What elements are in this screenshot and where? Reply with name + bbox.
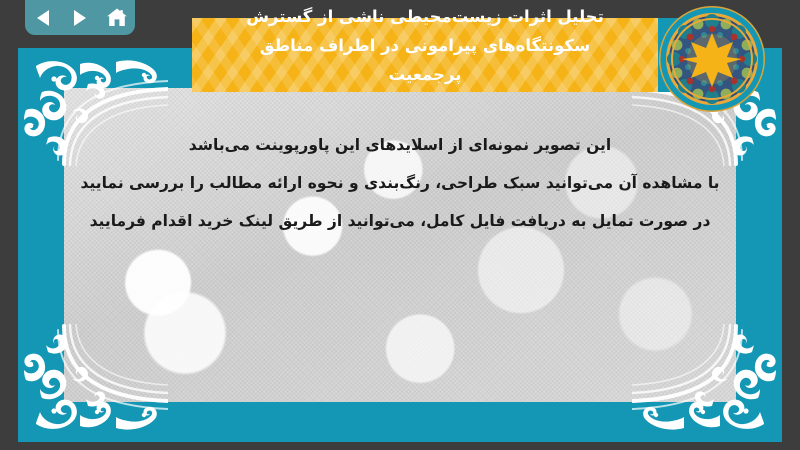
page-title: تحلیل اثرات زیست‌محیطی ناشی از گسترش سکو…: [246, 2, 604, 89]
title-line-3: پرجمعیت: [246, 60, 604, 89]
body-line-2: با مشاهده آن می‌توانید سبک طراحی، رنگ‌بن…: [78, 164, 722, 202]
previous-button[interactable]: [30, 5, 56, 31]
body-line-1: این تصویر نمونه‌ای از اسلایدهای این پاور…: [78, 126, 722, 164]
triangle-left-icon: [34, 8, 52, 28]
home-icon: [106, 7, 128, 28]
next-button[interactable]: [67, 5, 93, 31]
persian-medallion-icon: [658, 5, 766, 113]
slide-title-banner: تحلیل اثرات زیست‌محیطی ناشی از گسترش سکو…: [192, 18, 692, 92]
slide-viewer: این تصویر نمونه‌ای از اسلایدهای این پاور…: [0, 0, 800, 450]
home-button[interactable]: [104, 5, 130, 31]
body-line-3: در صورت تمایل به دریافت فایل کامل، می‌تو…: [78, 202, 722, 240]
banner-body: تحلیل اثرات زیست‌محیطی ناشی از گسترش سکو…: [192, 18, 658, 92]
title-line-1: تحلیل اثرات زیست‌محیطی ناشی از گسترش: [246, 2, 604, 31]
navigation-bar: [25, 0, 135, 35]
title-line-2: سکونتگاه‌های پیرامونی در اطراف مناطق: [246, 31, 604, 60]
triangle-right-icon: [71, 8, 89, 28]
slide-body-text: این تصویر نمونه‌ای از اسلایدهای این پاور…: [78, 126, 722, 240]
